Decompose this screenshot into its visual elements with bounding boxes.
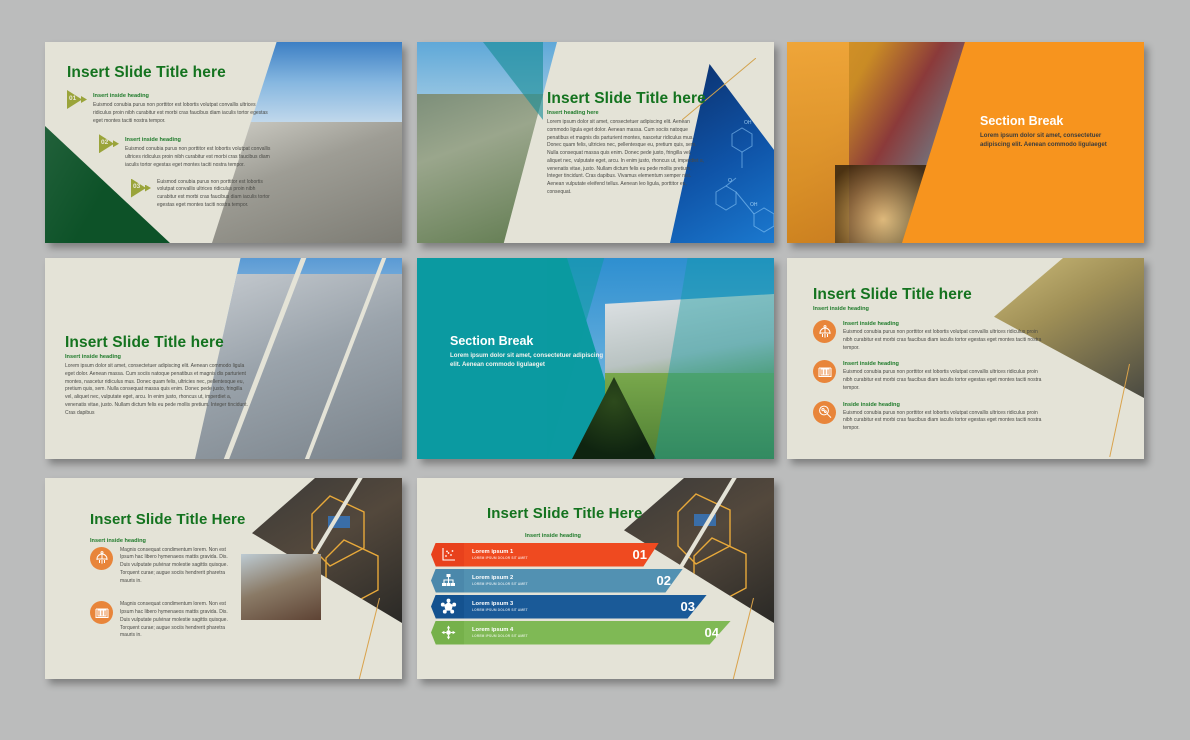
section-break-title: Section Break — [980, 114, 1130, 128]
science-dome-icon — [90, 547, 113, 570]
arrow-number: 02 — [657, 573, 677, 588]
arrow-label: Lorem ipsum 2 — [472, 575, 528, 581]
library-study-photo — [241, 554, 321, 620]
arrow-row-3[interactable]: Lorem ipsum 3 LOREM IPSUM DOLOR SIT AMET… — [431, 595, 707, 619]
town-region — [417, 94, 557, 243]
page-title: Insert Slide Title here — [813, 286, 1048, 303]
marker-number: 02 — [101, 139, 108, 146]
section-subheading: Insert inside heading — [90, 538, 290, 544]
section-subheading: Insert inside heading — [525, 533, 747, 539]
body-paragraph: Lorem ipsum dolor sit amet, consectetuer… — [65, 363, 250, 417]
arrow-subtext: LOREM IPSUM DOLOR SIT AMET — [472, 608, 528, 612]
slide-thumbnail-5[interactable]: Section Break Lorem ipsum dolor sit amet… — [417, 258, 774, 459]
arrow-row-1[interactable]: Lorem ipsum 1 LOREM IPSUM DOLOR SIT AMET… — [431, 543, 659, 567]
arrow-label: Lorem ipsum 1 — [472, 549, 528, 555]
slide-thumbnail-7[interactable]: Insert Slide Title Here Insert inside he… — [45, 478, 402, 679]
arrow-bar: Lorem ipsum 3 LOREM IPSUM DOLOR SIT AMET… — [464, 595, 707, 619]
page-title: Insert Slide Title here — [65, 334, 250, 351]
network-node-icon — [431, 595, 465, 619]
slide-8-content: Insert Slide Title Here Insert inside he… — [487, 506, 747, 647]
arrow-number: 04 — [705, 625, 725, 640]
numbered-triangle-icon: 01 — [67, 90, 87, 109]
slide-thumbnail-1[interactable]: Insert Slide Title here 01 Insert inside… — [45, 42, 402, 243]
slide-5-content: Section Break Lorem ipsum dolor sit amet… — [450, 334, 605, 369]
slide-thumbnail-6[interactable]: Insert Slide Title here Insert inside he… — [787, 258, 1144, 459]
bullet-item: 01 Insert inside heading Euismod conubia… — [67, 90, 275, 125]
arrow-row-2[interactable]: Lorem ipsum 2 LOREM IPSUM DOLOR SIT AMET… — [431, 569, 683, 593]
bullet-body: Euismod conubia purus non porttitor est … — [125, 146, 275, 169]
arrow-number: 03 — [681, 599, 701, 614]
arrow-bar: Lorem ipsum 4 LOREM IPSUM DOLOR SIT AMET… — [464, 621, 731, 645]
slide-thumbnail-3[interactable]: Section Break Lorem ipsum dolor sit amet… — [787, 42, 1144, 243]
feature-body: Euismod conubia purus non porttitor est … — [843, 329, 1048, 352]
slide-thumbnail-2[interactable]: OHOOH Insert Slide Title here Insert hea… — [417, 42, 774, 243]
arrow-bar: Lorem ipsum 2 LOREM IPSUM DOLOR SIT AMET… — [464, 569, 683, 593]
slide-4-content: Insert Slide Title here Insert inside he… — [65, 334, 250, 417]
bullet-item: 03 Euismod conubia purus non porttitor e… — [131, 179, 275, 210]
arrow-subtext: LOREM IPSUM DOLOR SIT AMET — [472, 556, 528, 560]
arrow-bar: Lorem ipsum 1 LOREM IPSUM DOLOR SIT AMET… — [464, 543, 659, 567]
marker-number: 01 — [69, 95, 76, 102]
svg-text:OH: OH — [744, 120, 752, 126]
arrow-label: Lorem ipsum 4 — [472, 627, 528, 633]
marker-number: 03 — [133, 183, 140, 190]
page-title: Insert Slide Title here — [67, 64, 275, 81]
feature-item: Insert inside heading Euismod conubia pu… — [813, 320, 1048, 352]
numbered-triangle-icon: 02 — [99, 134, 119, 153]
feature-body: Magnis consequat condimentum lorem. Non … — [120, 547, 232, 586]
test-tube-rack-icon — [90, 601, 113, 624]
bullet-body: Euismod conubia purus non porttitor est … — [157, 179, 275, 210]
page-title: Insert Slide Title Here — [487, 506, 747, 523]
section-break-body: Lorem ipsum dolor sit amet, consectetuer… — [980, 132, 1130, 149]
bullet-heading: Insert inside heading — [125, 137, 275, 143]
slide-6-content: Insert Slide Title here Insert inside he… — [813, 286, 1048, 433]
feature-item: Inside inside heading Euismod conubia pu… — [813, 401, 1048, 433]
slide-thumbnail-4[interactable]: Insert Slide Title here Insert inside he… — [45, 258, 402, 459]
scatter-chart-icon — [431, 543, 465, 567]
section-subheading: Insert heading here — [547, 110, 707, 116]
science-dome-icon — [813, 320, 836, 343]
section-break-body: Lorem ipsum dolor sit amet, consectetuer… — [450, 352, 605, 369]
feature-heading: Insert inside heading — [843, 321, 1048, 327]
feature-body: Euismod conubia purus non porttitor est … — [843, 369, 1048, 392]
arrow-list: Lorem ipsum 1 LOREM IPSUM DOLOR SIT AMET… — [431, 543, 747, 645]
numbered-triangle-icon: 03 — [131, 179, 151, 198]
arrow-subtext: LOREM IPSUM DOLOR SIT AMET — [472, 582, 528, 586]
slide-2-content: Insert Slide Title here Insert heading h… — [547, 90, 707, 197]
arrow-subtext: LOREM IPSUM DOLOR SIT AMET — [472, 634, 528, 638]
magnifier-cells-icon — [813, 401, 836, 424]
test-tube-rack-icon — [813, 360, 836, 383]
page-title: Insert Slide Title here — [547, 90, 707, 107]
svg-text:OH: OH — [750, 202, 758, 208]
section-subheading: Insert inside heading — [65, 354, 250, 360]
svg-text:O: O — [728, 178, 732, 184]
feature-heading: Inside inside heading — [843, 402, 1048, 408]
arrow-label: Lorem ipsum 3 — [472, 601, 528, 607]
slide-thumbnail-8[interactable]: Insert Slide Title Here Insert inside he… — [417, 478, 774, 679]
arrow-number: 01 — [633, 547, 653, 562]
feature-heading: Insert inside heading — [843, 361, 1048, 367]
slide-1-content: Insert Slide Title here 01 Insert inside… — [67, 64, 275, 210]
page-title: Insert Slide Title Here — [90, 512, 290, 529]
bullet-item: 02 Insert inside heading Euismod conubia… — [99, 134, 275, 169]
feature-body: Magnis consequat condimentum lorem. Non … — [120, 601, 232, 640]
compass-cross-icon — [431, 621, 465, 645]
feature-body: Euismod conubia purus non porttitor est … — [843, 410, 1048, 433]
section-subheading: Insert inside heading — [813, 306, 1048, 312]
section-break-title: Section Break — [450, 334, 605, 348]
gold-hairline — [358, 598, 380, 679]
feature-item: Insert inside heading Euismod conubia pu… — [813, 360, 1048, 392]
slide-3-content: Section Break Lorem ipsum dolor sit amet… — [980, 114, 1130, 149]
org-chart-icon — [431, 569, 465, 593]
arrow-row-4[interactable]: Lorem ipsum 4 LOREM IPSUM DOLOR SIT AMET… — [431, 621, 731, 645]
body-paragraph: Lorem ipsum dolor sit amet, consectetuer… — [547, 119, 707, 197]
bullet-heading: Insert inside heading — [93, 93, 275, 99]
bullet-body: Euismod conubia purus non porttitor est … — [93, 102, 275, 125]
slide-deck-overview: Insert Slide Title here 01 Insert inside… — [0, 0, 1190, 740]
